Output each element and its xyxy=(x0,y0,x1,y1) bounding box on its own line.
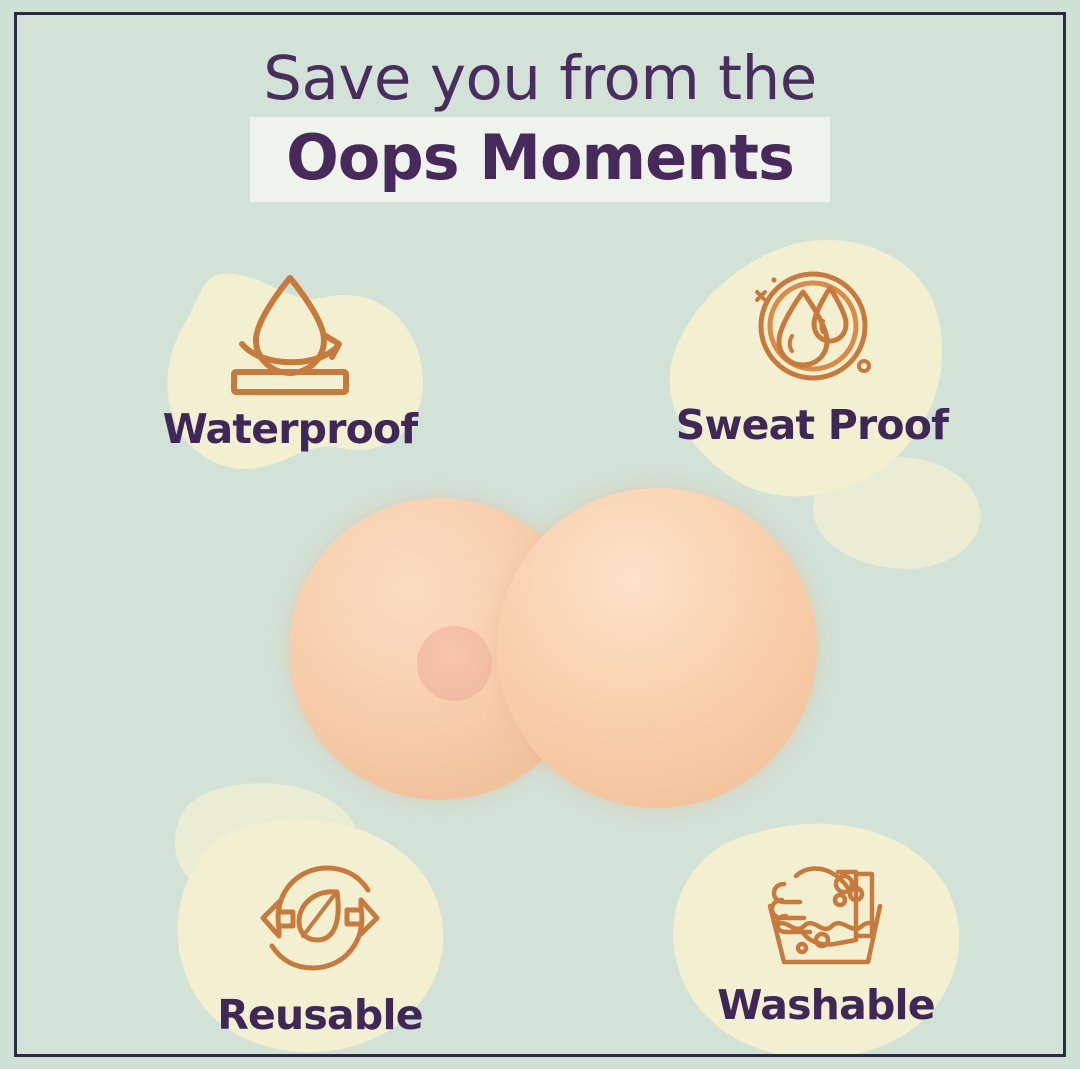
feature-washable-icon-box xyxy=(651,843,1001,973)
title-line-2-highlighted: Oops Moments xyxy=(250,117,830,202)
feature-reusable-label: Reusable xyxy=(145,991,495,1039)
feature-sweatproof-label: Sweat Proof xyxy=(637,401,987,449)
feature-washable: Washable xyxy=(651,843,1001,1029)
infographic-stage: Save you from the Oops Moments xyxy=(17,15,1063,1054)
water-droplet-repel-icon xyxy=(220,268,360,396)
infographic-canvas: Save you from the Oops Moments xyxy=(0,0,1080,1069)
feature-waterproof-icon-box xyxy=(115,267,465,397)
feature-waterproof: Waterproof xyxy=(115,267,465,453)
feature-sweatproof: Sweat Proof xyxy=(637,263,987,449)
hand-wash-basin-icon xyxy=(760,844,892,972)
feature-waterproof-label: Waterproof xyxy=(115,405,465,453)
feature-washable-label: Washable xyxy=(651,981,1001,1029)
feature-sweatproof-icon-box xyxy=(637,263,987,393)
title-line-1: Save you from the xyxy=(17,43,1063,115)
product-image xyxy=(279,485,819,835)
recycle-leaf-icon xyxy=(249,854,391,982)
product-pad-right xyxy=(497,488,817,808)
title-highlight-wrap: Oops Moments xyxy=(17,117,1063,202)
page-title: Save you from the Oops Moments xyxy=(17,43,1063,202)
sweat-droplets-circle-icon xyxy=(737,262,887,394)
blob-accent-upper-right xyxy=(807,445,987,575)
feature-reusable: Reusable xyxy=(145,853,495,1039)
product-pad-center-dot xyxy=(417,626,492,701)
feature-reusable-icon-box xyxy=(145,853,495,983)
